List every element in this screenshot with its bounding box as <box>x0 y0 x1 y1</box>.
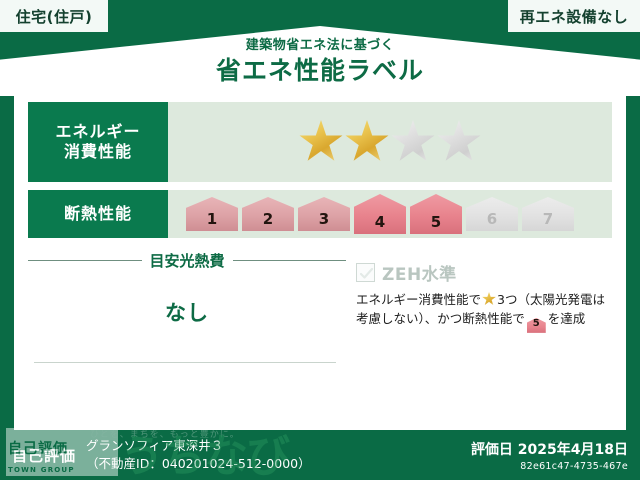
utility-cost-value: なし <box>28 297 346 327</box>
zeh-description: エネルギー消費性能で3つ（太陽光発電は考慮しない）、かつ断熱性能で5を達成 <box>356 290 608 333</box>
house-icon: 5 <box>527 318 546 333</box>
evaluation-id: 82e61c47-4735-467e <box>471 461 628 472</box>
star-icon-2 <box>345 120 389 164</box>
title-subtitle: 建築物省エネ法に基づく <box>0 38 640 54</box>
insulation-level-1: 1 <box>186 197 238 231</box>
page-title: 省エネ性能ラベル <box>0 55 640 86</box>
evaluation-date: 評価日 2025年4月18日 <box>471 439 628 459</box>
renewable-equipment-tag: 再エネ設備なし <box>508 0 640 32</box>
insulation-level-5: 5 <box>410 194 462 234</box>
insulation-level-scale: 1234567 <box>168 190 612 238</box>
zeh-title: ZEH水準 <box>382 260 457 285</box>
footer-right: 評価日 2025年4月18日 82e61c47-4735-467e <box>471 439 628 472</box>
utility-cost-heading: 目安光熱費 <box>28 250 346 271</box>
energy-star-rating <box>168 102 612 182</box>
rule-left <box>28 260 142 261</box>
label-card: エネルギー 消費性能 断熱性能 1234567 目安光熱費 なし <box>14 92 626 430</box>
energy-performance-label: 住宅(住戸) 再エネ設備なし 建築物省エネ法に基づく 省エネ性能ラベル エネルギ… <box>0 0 640 480</box>
zeh-desc-part2: 3つ（太陽光発電 <box>497 292 592 307</box>
insulation-level-2: 2 <box>242 197 294 231</box>
utility-cost-divider <box>34 362 336 363</box>
insulation-performance-key: 断熱性能 <box>28 190 168 238</box>
insulation-performance-row: 断熱性能 1234567 <box>28 190 612 238</box>
star-icon-1 <box>299 120 343 164</box>
label-footer: 自己評価 グランソフィア東深井３ （不動産ID：040201024-512-00… <box>0 430 640 480</box>
energy-label-line1: エネルギー <box>55 122 140 142</box>
building-type-tag: 住宅(住戸) <box>0 0 108 32</box>
star-icon-4 <box>437 120 481 164</box>
utility-cost-heading-text: 目安光熱費 <box>150 250 225 271</box>
insulation-level-4: 4 <box>354 194 406 234</box>
energy-performance-key: エネルギー 消費性能 <box>28 102 168 182</box>
insulation-level-3: 3 <box>298 197 350 231</box>
insulation-level-7: 7 <box>522 197 574 231</box>
lower-section: 目安光熱費 なし ZEH水準 エネルギー消費性能で3つ（太陽光発電は考慮しな <box>28 246 612 333</box>
footer-left: 自己評価 グランソフィア東深井３ （不動産ID：040201024-512-00… <box>12 437 311 473</box>
checkmark-icon <box>356 263 375 282</box>
self-evaluation-badge: 自己評価 <box>12 445 76 466</box>
zeh-desc-part4: を達成 <box>548 311 586 326</box>
star-icon-3 <box>391 120 435 164</box>
zeh-panel: ZEH水準 エネルギー消費性能で3つ（太陽光発電は考慮しない）、かつ断熱性能で5… <box>346 246 612 333</box>
property-info: グランソフィア東深井３ （不動産ID：040201024-512-0000） <box>86 437 311 473</box>
zeh-heading: ZEH水準 <box>356 260 608 285</box>
rule-right <box>233 260 347 261</box>
energy-performance-row: エネルギー 消費性能 <box>28 102 612 182</box>
zeh-desc-part1: エネルギー消費性能で <box>356 292 481 307</box>
insulation-label: 断熱性能 <box>64 204 132 224</box>
label-title-block: 建築物省エネ法に基づく 省エネ性能ラベル <box>0 38 640 86</box>
property-name: グランソフィア東深井３ <box>86 437 311 455</box>
insulation-level-6: 6 <box>466 197 518 231</box>
utility-cost-panel: 目安光熱費 なし <box>28 246 346 333</box>
energy-label-line2: 消費性能 <box>64 142 132 162</box>
property-id: （不動産ID：040201024-512-0000） <box>86 455 311 473</box>
star-icon <box>482 292 496 306</box>
